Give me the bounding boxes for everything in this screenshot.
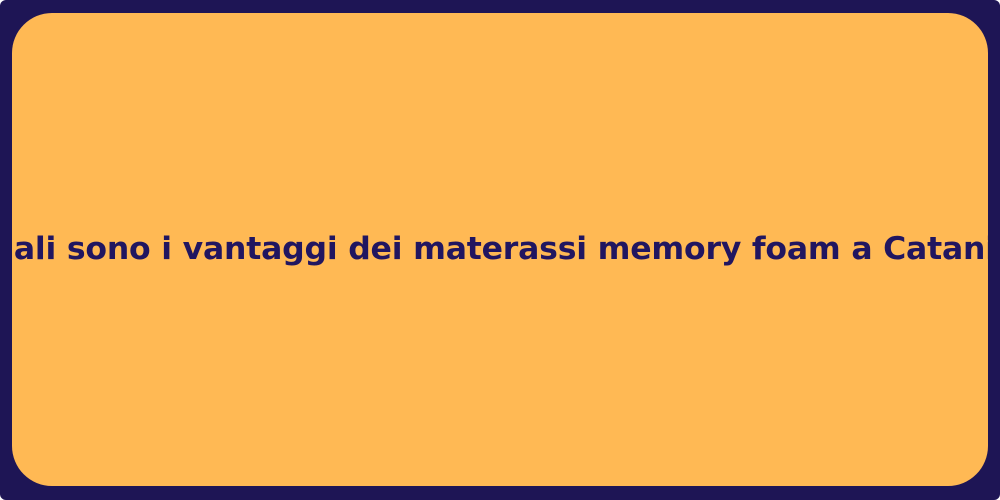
- banner-frame: Quali sono i vantaggi dei materassi memo…: [0, 0, 1000, 500]
- page-title: Quali sono i vantaggi dei materassi memo…: [12, 230, 988, 269]
- banner-panel: Quali sono i vantaggi dei materassi memo…: [12, 13, 988, 486]
